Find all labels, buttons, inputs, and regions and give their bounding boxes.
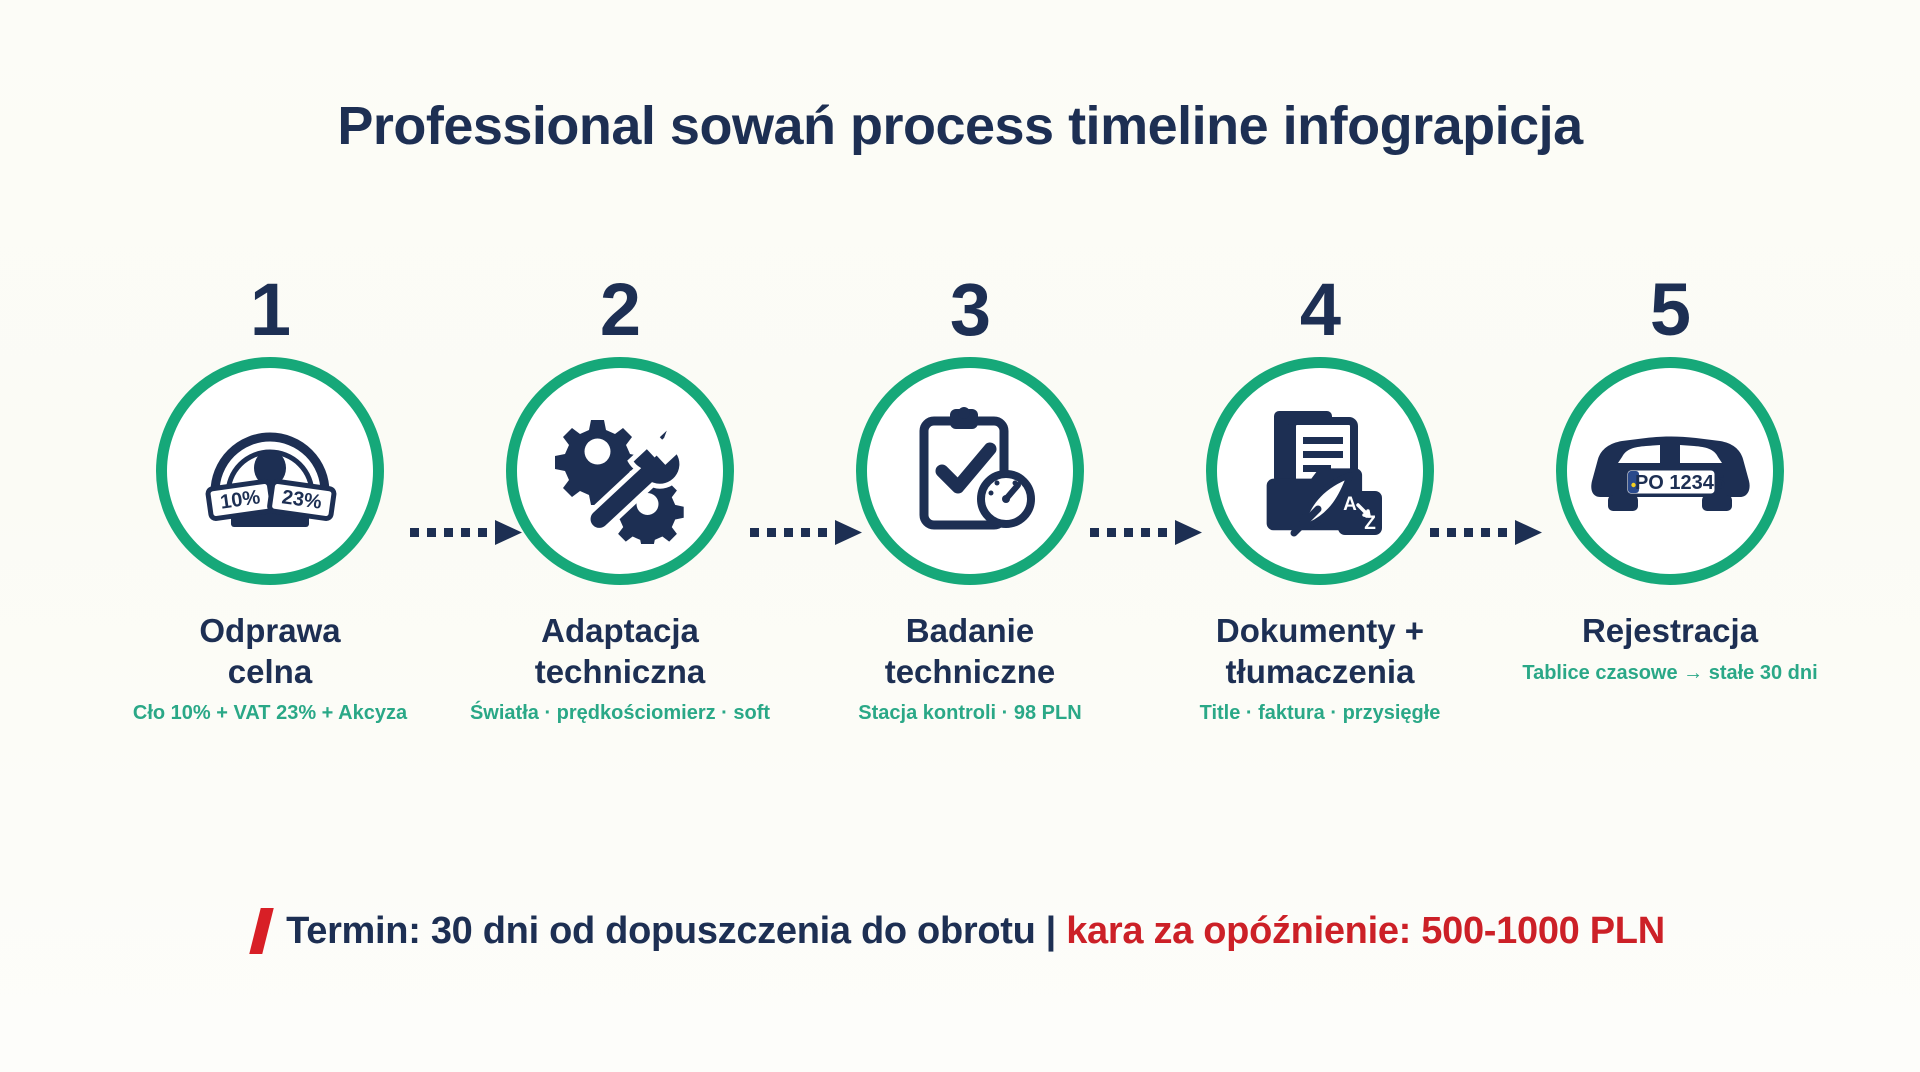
step-4-subtitle: Title · faktura · przysięgłe: [1200, 702, 1441, 725]
footer-penalty-text: kara za opóźnienie: 500-1000 PLN: [1066, 910, 1665, 953]
step-1-circle[interactable]: 10% 23%: [156, 357, 384, 585]
step-4-title: Dokumenty + tłumaczenia: [1216, 611, 1424, 692]
step-3[interactable]: 3: [820, 275, 1120, 725]
step-1-number: 1: [250, 275, 290, 345]
step-2-subtitle: Światła · prędkościomierz · soft: [470, 702, 770, 725]
step-2-title: Adaptacja techniczna: [535, 611, 706, 692]
infographic-canvas: Professional sowań process timeline info…: [0, 0, 1920, 1072]
step-1-subtitle: Cło 10% + VAT 23% + Akcyza: [133, 702, 407, 725]
clipboard-check-gauge-icon: [898, 399, 1042, 543]
steps-row: 1 10%: [120, 275, 1820, 745]
step-2-circle[interactable]: [506, 357, 734, 585]
step-2-number: 2: [600, 275, 640, 345]
car-plate-icon: PO 12345: [1586, 405, 1754, 537]
customs-stamp-icon: 10% 23%: [195, 396, 345, 546]
step-3-title: Badanie techniczne: [885, 611, 1056, 692]
step-1[interactable]: 1 10%: [120, 275, 420, 725]
footer-slash-marker: [249, 908, 273, 954]
step-4[interactable]: 4: [1170, 275, 1470, 725]
step-4-number: 4: [1300, 275, 1340, 345]
step-2[interactable]: 2: [470, 275, 770, 725]
step-5[interactable]: 5 PO: [1520, 275, 1820, 685]
step-5-title: Rejestracja: [1582, 611, 1758, 651]
footer-banner: Termin: 30 dni od dopuszczenia do obrotu…: [0, 908, 1920, 954]
documents-translation-icon: A Z: [1246, 397, 1394, 545]
step-3-subtitle: Stacja kontroli · 98 PLN: [858, 702, 1081, 725]
footer-separator: |: [1036, 910, 1067, 953]
step-3-circle[interactable]: [856, 357, 1084, 585]
step-1-title: Odprawa celna: [199, 611, 340, 692]
step-4-badge-left: A: [1343, 494, 1357, 515]
step-5-license-plate: PO 12345: [1635, 472, 1725, 494]
footer-deadline-text: Termin: 30 dni od dopuszczenia do obrotu: [286, 910, 1035, 953]
step-5-subtitle: Tablice czasowe → stałe 30 dni: [1522, 662, 1817, 685]
page-title: Professional sowań process timeline info…: [0, 95, 1920, 157]
step-3-number: 3: [950, 275, 990, 345]
step-4-circle[interactable]: A Z: [1206, 357, 1434, 585]
step-5-number: 5: [1650, 275, 1690, 345]
wrench-gear-icon: [547, 398, 693, 544]
step-5-circle[interactable]: PO 12345: [1556, 357, 1784, 585]
